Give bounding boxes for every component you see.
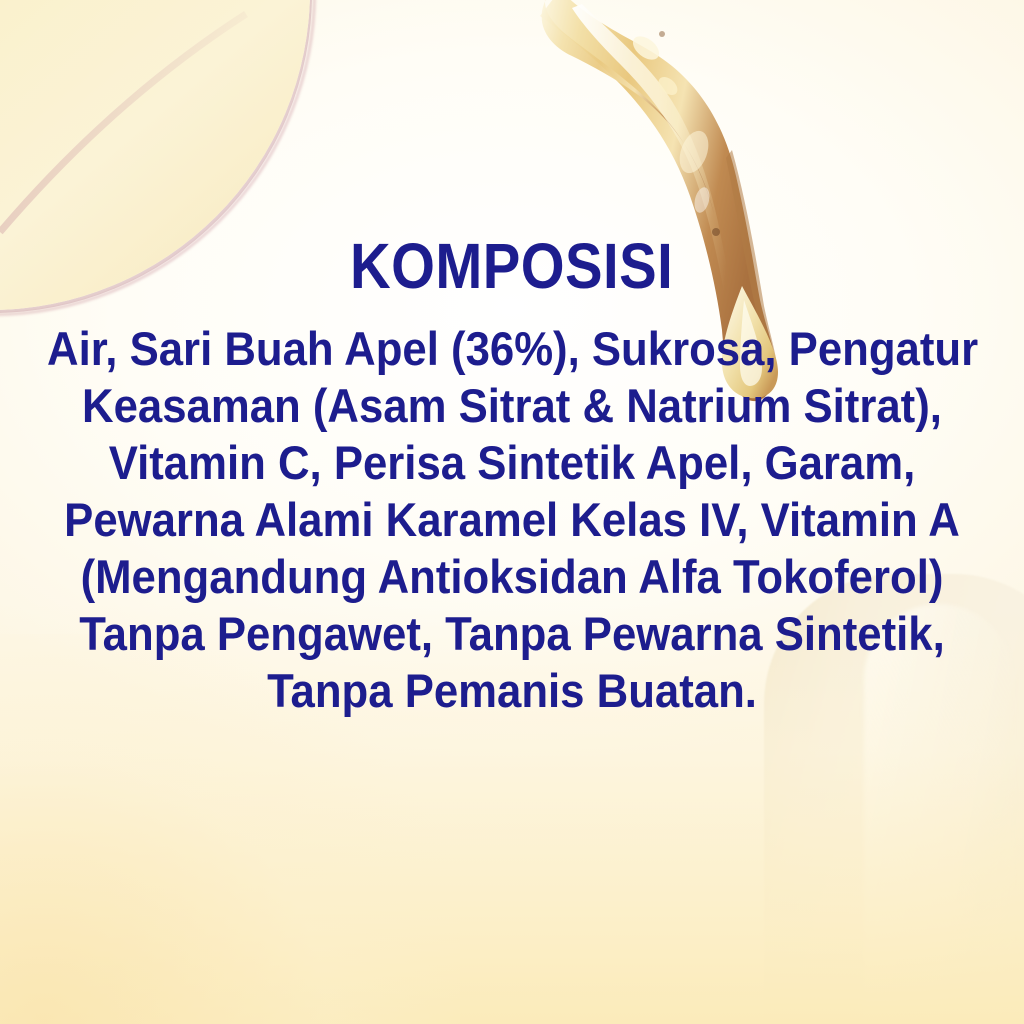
- text-content: KOMPOSISI Air, Sari Buah Apel (36%), Suk…: [0, 0, 1024, 1024]
- ingredients-line: Keasaman (Asam Sitrat & Natrium Sitrat),: [47, 377, 977, 434]
- ingredients-panel-image: KOMPOSISI Air, Sari Buah Apel (36%), Suk…: [0, 0, 1024, 1024]
- ingredients-line: Pewarna Alami Karamel Kelas IV, Vitamin …: [47, 491, 977, 548]
- ingredients-line: Air, Sari Buah Apel (36%), Sukrosa, Peng…: [47, 320, 977, 377]
- ingredients-line: Tanpa Pemanis Buatan.: [47, 662, 977, 719]
- ingredients-line: Vitamin C, Perisa Sintetik Apel, Garam,: [47, 434, 977, 491]
- ingredients-line: Tanpa Pengawet, Tanpa Pewarna Sintetik,: [47, 605, 977, 662]
- page-title: KOMPOSISI: [350, 234, 673, 298]
- ingredients-list: Air, Sari Buah Apel (36%), Sukrosa, Peng…: [12, 320, 1012, 719]
- ingredients-line: (Mengandung Antioksidan Alfa Tokoferol): [47, 548, 977, 605]
